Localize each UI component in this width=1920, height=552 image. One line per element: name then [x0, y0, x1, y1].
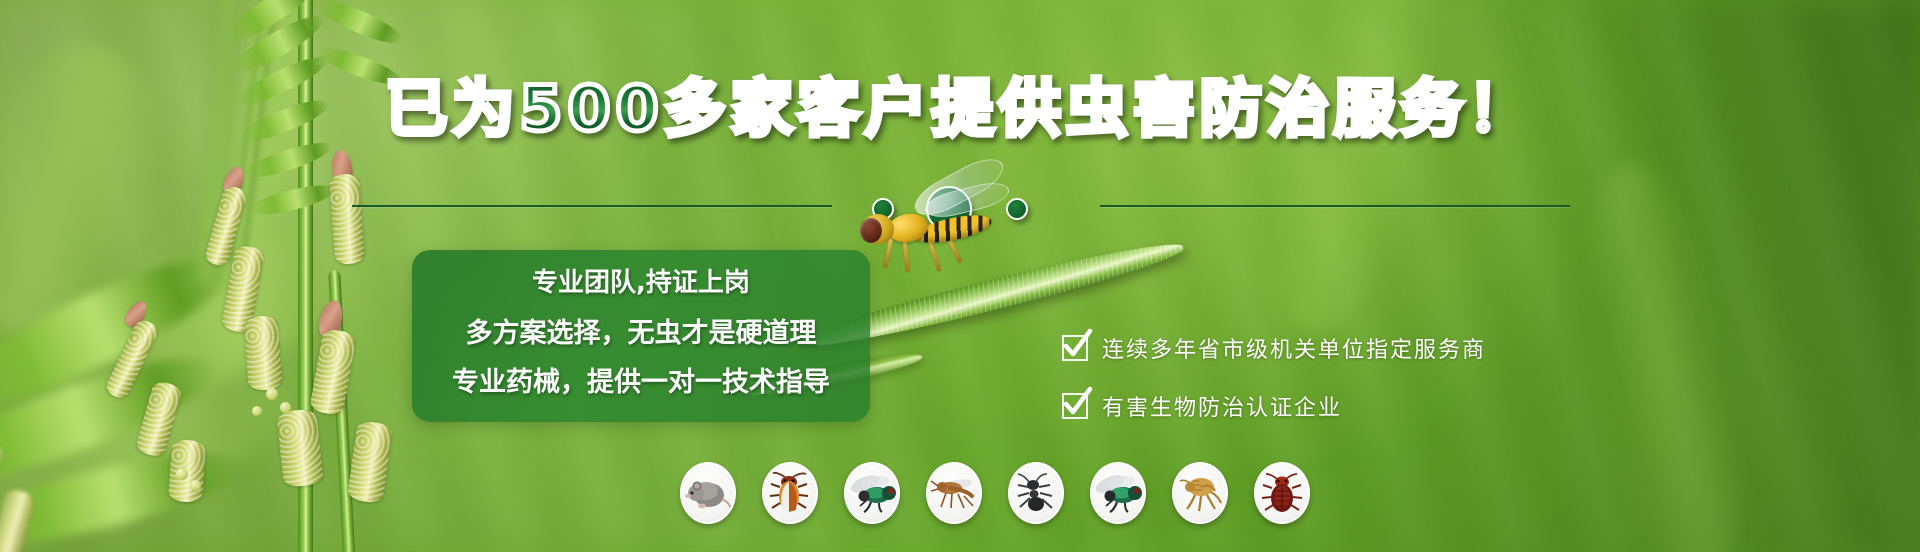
flea-icon[interactable]: 跳蚤 — [1172, 462, 1228, 524]
page-title: 已为500多家客户提供虫害防治服务！ — [0, 78, 1920, 140]
bedbug-icon[interactable]: 臭虫 — [1254, 462, 1310, 524]
checkbox-checked-icon — [1062, 335, 1088, 361]
hoverfly-leg-icon — [902, 238, 910, 272]
pest-control-hero-banner: 已为500多家客户提供虫害防治服务！ 专业团队,持证上岗 多方案选择，无虫才是硬… — [0, 0, 1920, 552]
cockroach-icon[interactable]: 蟑螂 — [762, 462, 818, 524]
selling-point-line-1: 专业团队,持证上岗 — [426, 270, 856, 296]
ant-icon[interactable]: 蚁 — [1008, 462, 1064, 524]
divider-rule-left — [352, 205, 832, 207]
hoverfly-eye-icon — [860, 218, 882, 243]
list-item: 有害生物防治认证企业 — [1062, 390, 1486, 422]
mosquito-icon[interactable]: 蚊 — [926, 462, 982, 524]
selling-points-panel: 专业团队,持证上岗 多方案选择，无虫才是硬道理 专业药械，提供一对一技术指导 — [412, 250, 870, 422]
divider-rule-right — [1100, 205, 1570, 207]
fly-icon[interactable]: 蝇 — [844, 462, 900, 524]
selling-point-line-3: 专业药械，提供一对一技术指导 — [426, 369, 856, 396]
checkbox-checked-icon — [1062, 393, 1088, 419]
credential-text: 有害生物防治认证企业 — [1102, 390, 1342, 422]
selling-point-line-2: 多方案选择，无虫才是硬道理 — [426, 320, 856, 347]
credential-text: 连续多年省市级机关单位指定服务商 — [1102, 332, 1486, 364]
credentials-list: 连续多年省市级机关单位指定服务商 有害生物防治认证企业 — [1062, 332, 1486, 422]
mouse-icon[interactable]: 鼠 — [680, 462, 736, 524]
list-item: 连续多年省市级机关单位指定服务商 — [1062, 332, 1486, 364]
divider-dot-small-right — [1006, 198, 1028, 220]
blowfly-icon[interactable]: 绿头蝇 — [1090, 462, 1146, 524]
pest-types-icon-strip: 鼠 蟑螂 — [680, 462, 1310, 524]
